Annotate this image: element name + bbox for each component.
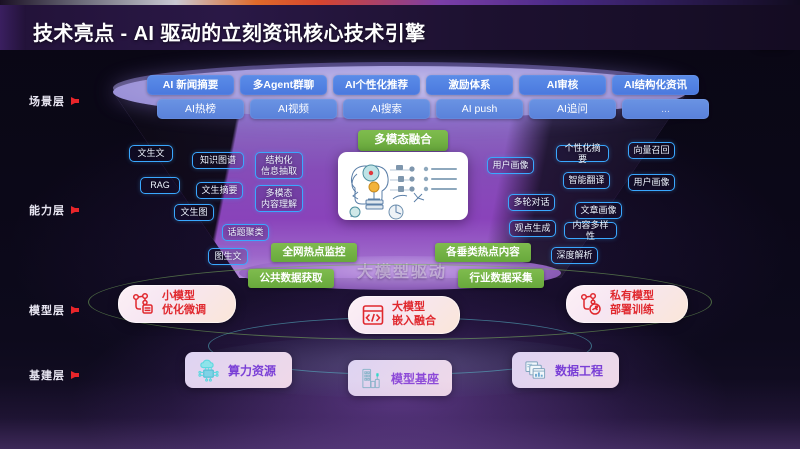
arrow-right-icon [71,206,79,214]
capability-chip[interactable]: 内容多样性 [564,222,617,239]
green-tag[interactable]: 全网热点监控 [271,243,357,262]
layer-label-scene: 场景层 [29,93,79,109]
top-accent-bar [0,0,800,5]
capability-chip[interactable]: 观点生成 [509,220,556,237]
arrow-right-icon [71,306,79,314]
arrow-right-icon [71,371,79,379]
scene-chip[interactable]: AI视频 [250,99,337,119]
capability-chip[interactable]: 智能翻译 [563,172,610,189]
scene-chip[interactable]: AI push [436,99,523,119]
infra-card-model-base[interactable]: 模型基座 [348,360,452,396]
scene-chip[interactable]: AI结构化资讯 [612,75,699,95]
scene-chip[interactable]: AI 新闻摘要 [147,75,234,95]
scene-chip[interactable]: 激励体系 [426,75,513,95]
scene-chip[interactable]: 多Agent群聊 [240,75,327,95]
model-card-small-model[interactable]: 小模型 优化微调 [118,285,236,323]
green-tag[interactable]: 行业数据采集 [458,269,544,288]
green-tag[interactable]: 公共数据获取 [248,269,334,288]
multimodal-fusion-badge[interactable]: 多模态融合 [358,130,448,151]
capability-chip[interactable]: 文生摘要 [196,182,243,199]
capability-chip[interactable]: 用户画像 [487,157,534,174]
scene-chip[interactable]: AI个性化推荐 [333,75,420,95]
infra-card-data-engineering[interactable]: 数据工程 [512,352,619,388]
ai-brain-illustration [338,152,468,220]
layer-label-model: 模型层 [29,302,79,318]
infra-card-title: 数据工程 [555,362,603,379]
model-card-title: 大模型 嵌入融合 [392,301,436,329]
capability-chip[interactable]: 向量召回 [628,142,675,159]
model-card-title: 私有模型 部署训练 [610,290,654,318]
capability-chip[interactable]: 文章画像 [575,202,622,219]
infra-card-title: 模型基座 [391,370,439,387]
layer-label-infra-text: 基建层 [29,367,65,383]
layer-label-infra: 基建层 [29,367,79,383]
private-model-icon [579,292,603,316]
slide-header: 技术亮点 - AI 驱动的立刻资讯核心技术引擎 [0,5,800,50]
cloud-chip-icon [197,359,220,382]
capability-chip[interactable]: 文生图 [174,204,214,221]
layer-label-model-text: 模型层 [29,302,65,318]
infra-card-compute[interactable]: 算力资源 [185,352,292,388]
ai-brain-svg [338,152,468,220]
infra-card-title: 算力资源 [228,362,276,379]
layer-label-capability: 能力层 [29,202,79,218]
capability-chip[interactable]: 结构化 信息抽取 [255,152,303,179]
capability-chip[interactable]: 文生文 [129,145,173,162]
capability-chip[interactable]: 个性化摘要 [556,145,609,162]
scene-chip[interactable]: ... [622,99,709,119]
funnel-watermark: 大模型驱动 [357,258,447,282]
building-icon [360,367,383,390]
capability-chip[interactable]: 多模态 内容理解 [255,185,303,212]
capability-chip[interactable]: 话题聚类 [222,224,269,241]
page-title: 技术亮点 - AI 驱动的立刻资讯核心技术引擎 [33,17,426,46]
capability-chip[interactable]: 多轮对话 [508,194,555,211]
model-card-large-model[interactable]: 大模型 嵌入融合 [348,296,460,334]
scene-chip[interactable]: AI搜索 [343,99,430,119]
capability-chip[interactable]: 深度解析 [551,247,598,264]
scene-chip[interactable]: AI审核 [519,75,606,95]
code-window-icon [361,303,385,327]
scene-chip[interactable]: AI追问 [529,99,616,119]
capability-chip[interactable]: 用户画像 [628,174,675,191]
slide-stage: 技术亮点 - AI 驱动的立刻资讯核心技术引擎 大模型驱动 场景层 能力层 模型… [0,0,800,449]
layer-label-scene-text: 场景层 [29,93,65,109]
green-tag[interactable]: 各垂类热点内容 [435,243,531,262]
model-card-title: 小模型 优化微调 [162,290,206,318]
model-card-private-model[interactable]: 私有模型 部署训练 [566,285,688,323]
layer-label-capability-text: 能力层 [29,202,65,218]
arrow-right-icon [71,97,79,105]
model-network-icon [131,292,155,316]
scene-chip[interactable]: AI热榜 [157,99,244,119]
capability-chip[interactable]: RAG [140,177,180,194]
capability-chip[interactable]: 知识图谱 [192,152,244,169]
chart-window-icon [524,359,547,382]
capability-chip[interactable]: 图生文 [208,248,248,265]
